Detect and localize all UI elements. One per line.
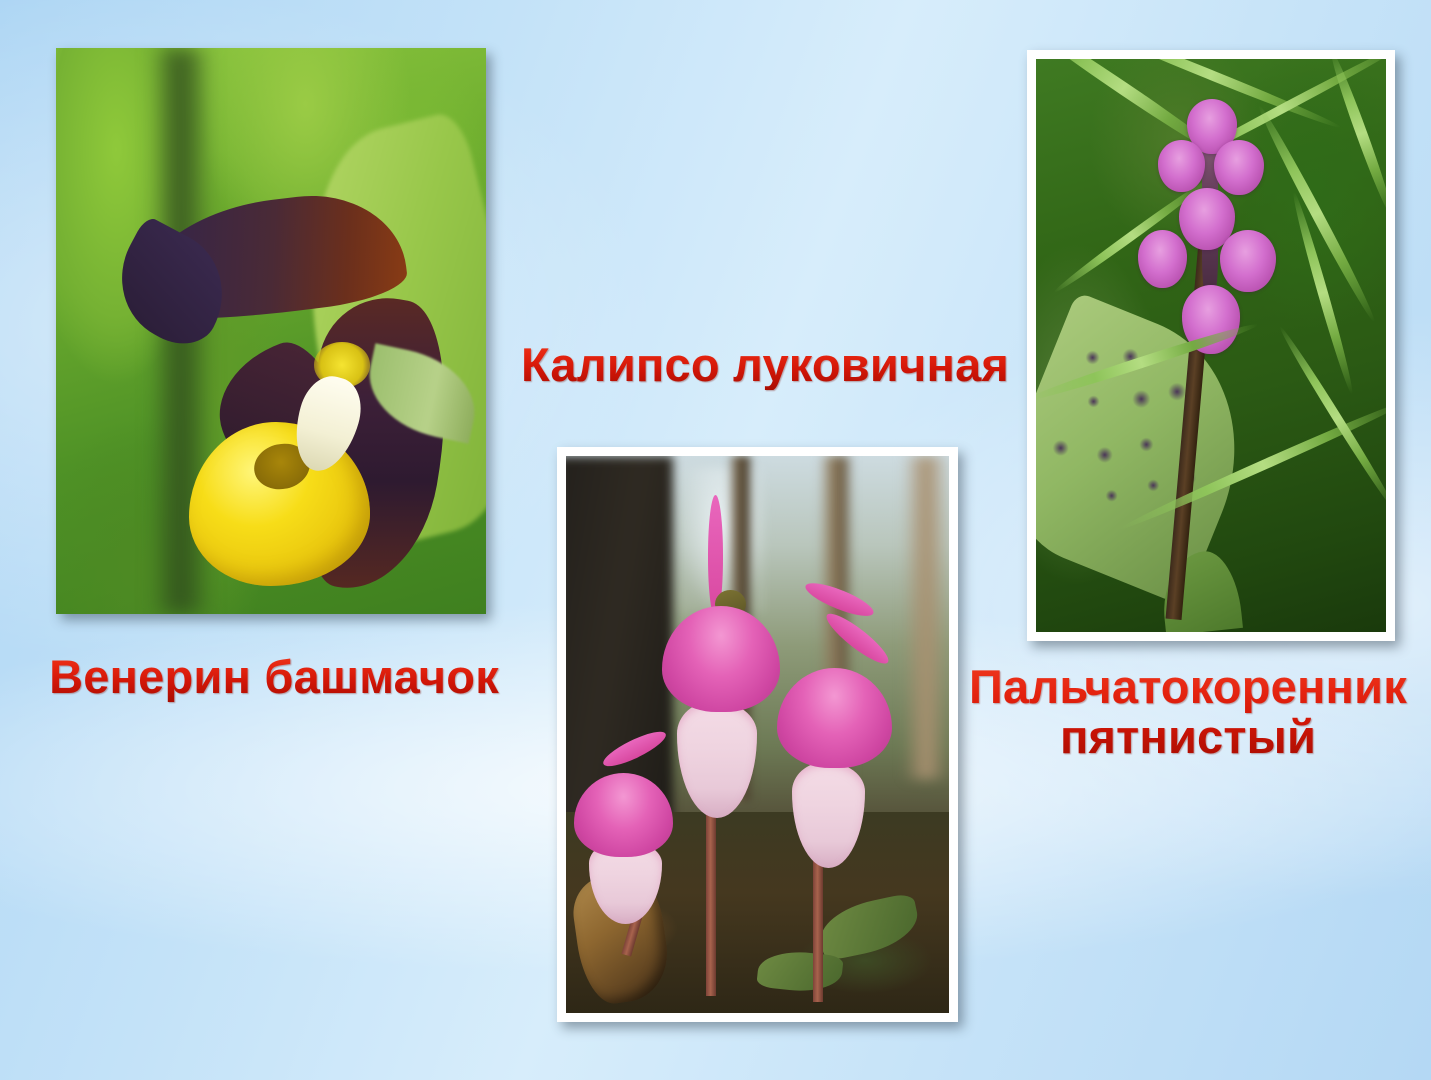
photo-cypripedium[interactable] bbox=[56, 48, 486, 614]
floret-shape bbox=[1138, 230, 1188, 288]
photo-cypripedium-image bbox=[56, 48, 486, 614]
floret-shape bbox=[1214, 140, 1264, 195]
caption-cypripedium: Венерин башмачок bbox=[34, 652, 514, 702]
floret-shape bbox=[1220, 230, 1276, 292]
photo-dactylorhiza[interactable] bbox=[1027, 50, 1395, 641]
caption-calypso: Калипсо луковичная bbox=[500, 340, 1030, 390]
calypso-flower-shape bbox=[777, 668, 892, 768]
flower-spike-group bbox=[1138, 99, 1285, 443]
caption-dactylorhiza: Пальчатокоренник пятнистый bbox=[955, 662, 1421, 762]
photo-calypso-image bbox=[566, 456, 949, 1013]
slide-canvas: Венерин башмачок Калипсо луковичная Паль… bbox=[0, 0, 1431, 1080]
photo-dactylorhiza-image bbox=[1036, 59, 1386, 632]
calypso-flower-shape bbox=[662, 606, 781, 712]
floret-shape bbox=[1158, 140, 1205, 192]
tree-trunk-shape bbox=[903, 456, 949, 779]
photo-calypso[interactable] bbox=[557, 447, 958, 1022]
